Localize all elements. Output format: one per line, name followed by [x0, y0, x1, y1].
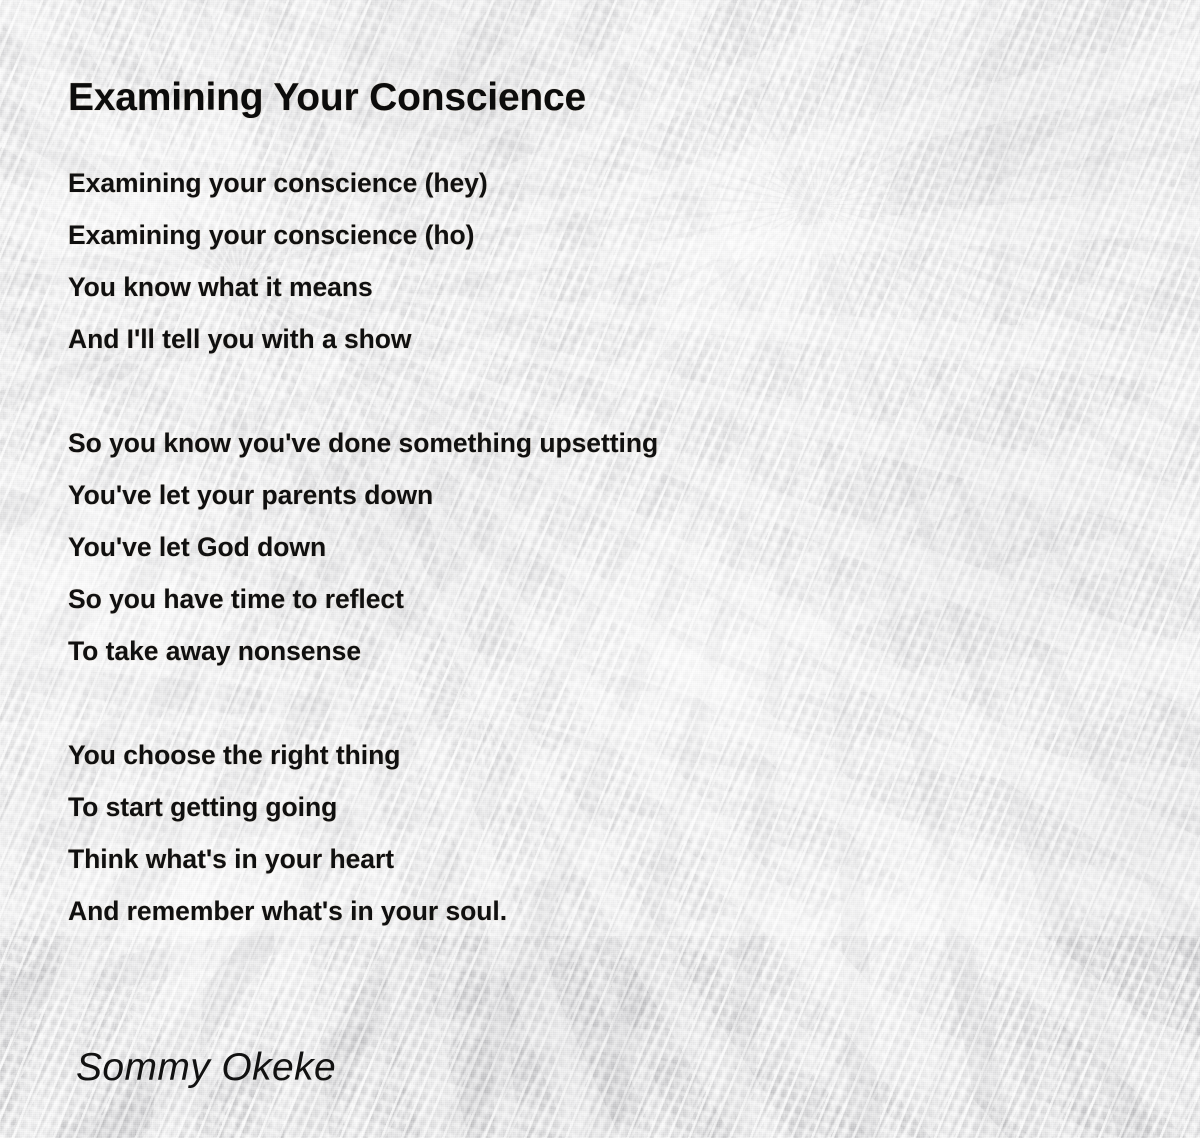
poem-line: To start getting going: [68, 781, 1128, 833]
poem-title: Examining Your Conscience: [68, 76, 586, 120]
poem-line: To take away nonsense: [68, 625, 1128, 677]
poem-author-byline: Sommy Okeke: [76, 1046, 336, 1090]
poem-image-card: Examining Your Conscience Examining your…: [0, 0, 1200, 1138]
poem-stanza: You choose the right thing To start gett…: [68, 729, 1128, 937]
poem-body: Examining your conscience (hey) Examinin…: [68, 157, 1128, 989]
poem-line: Examining your conscience (ho): [68, 209, 1128, 261]
poem-line: Think what's in your heart: [68, 833, 1128, 885]
poem-line: So you have time to reflect: [68, 573, 1128, 625]
poem-stanza: Examining your conscience (hey) Examinin…: [68, 157, 1128, 365]
poem-line: And I'll tell you with a show: [68, 313, 1128, 365]
poem-line: You know what it means: [68, 261, 1128, 313]
poem-line: You've let your parents down: [68, 469, 1128, 521]
poem-line: You've let God down: [68, 521, 1128, 573]
poem-content: Examining Your Conscience Examining your…: [0, 0, 1200, 1138]
poem-line: You choose the right thing: [68, 729, 1128, 781]
poem-line: Examining your conscience (hey): [68, 157, 1128, 209]
poem-stanza: So you know you've done something upsett…: [68, 417, 1128, 677]
poem-line: And remember what's in your soul.: [68, 885, 1128, 937]
poem-line: So you know you've done something upsett…: [68, 417, 1128, 469]
